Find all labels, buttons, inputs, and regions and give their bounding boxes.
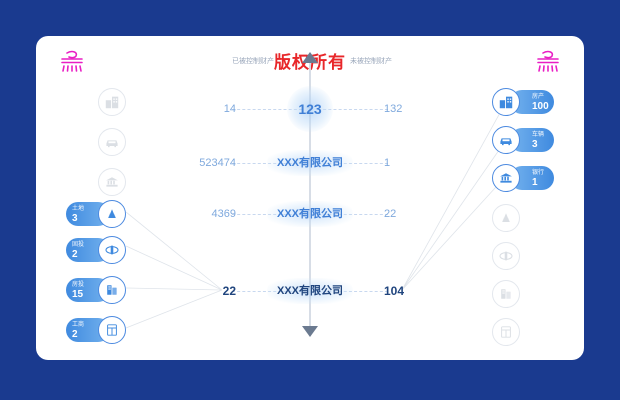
building-icon[interactable] (492, 88, 520, 116)
row-value-left: 523474 (166, 150, 236, 176)
row-value-right: 104 (384, 278, 454, 304)
land-icon[interactable] (492, 204, 520, 232)
badge-value: 3 (532, 139, 554, 150)
fixed-asset-icon[interactable] (98, 236, 126, 264)
badge-value: 100 (532, 101, 554, 112)
seal-stamp-icon (534, 48, 562, 74)
row-node-label[interactable]: XXX有限公司 (267, 278, 353, 304)
badge-label: 银行 (532, 169, 554, 177)
screen-root: 版权所有 (0, 0, 620, 400)
land-icon[interactable] (98, 200, 126, 228)
row-value-right: 132 (384, 96, 454, 122)
bank-icon[interactable] (492, 164, 520, 192)
column-caption-controlled: 已被控制财产 (232, 56, 274, 66)
car-icon[interactable] (98, 128, 126, 156)
business-icon[interactable] (98, 316, 126, 344)
report-card: 版权所有 (36, 36, 584, 360)
row-value-right: 22 (384, 201, 454, 227)
property-icon[interactable] (492, 280, 520, 308)
car-icon[interactable] (492, 126, 520, 154)
building-icon[interactable] (98, 88, 126, 116)
arrow-up-icon (302, 52, 318, 63)
arrow-down-icon (302, 326, 318, 337)
column-caption-uncontrolled: 未被控制财产 (350, 56, 392, 66)
badge-label: 车辆 (532, 131, 554, 139)
property-icon[interactable] (98, 276, 126, 304)
business-icon[interactable] (492, 318, 520, 346)
row-value-left: 14 (166, 96, 236, 122)
badge-label: 房产 (532, 93, 554, 101)
row-node-label[interactable]: XXX有限公司 (267, 150, 353, 176)
row-value-right: 1 (384, 150, 454, 176)
row-value-left: 22 (166, 278, 236, 304)
row-node-label[interactable]: XXX有限公司 (267, 201, 353, 227)
fixed-asset-icon[interactable] (492, 242, 520, 270)
badge-value: 1 (532, 177, 554, 188)
row-node-label[interactable]: 123 (287, 86, 333, 132)
row-value-left: 4369 (166, 201, 236, 227)
bank-icon[interactable] (98, 168, 126, 196)
